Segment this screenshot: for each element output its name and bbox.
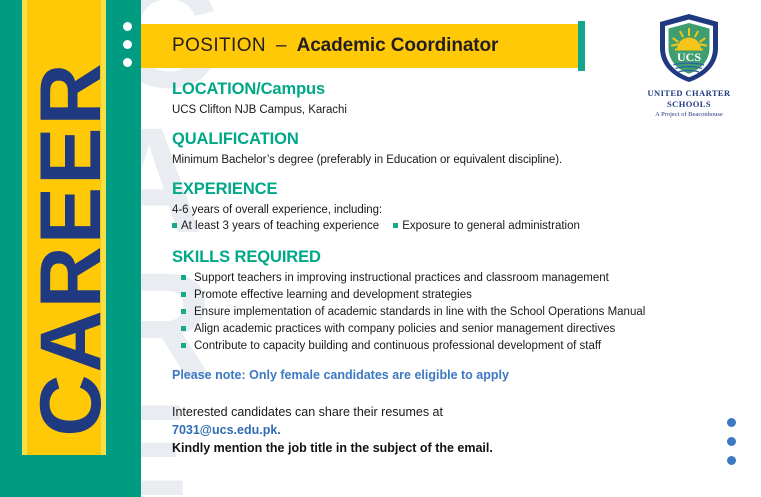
experience-bullet-item: At least 3 years of teaching experience — [172, 220, 379, 232]
apply-email[interactable]: 7031@ucs.edu.pk. — [172, 422, 732, 440]
apply-instruction: Interested candidates can share their re… — [172, 404, 732, 422]
subject-instruction: Kindly mention the job title in the subj… — [172, 440, 732, 458]
dot — [123, 58, 132, 67]
position-title: Academic Coordinator — [297, 35, 499, 57]
skills-heading: SKILLS REQUIRED — [172, 248, 732, 267]
list-item: Promote effective learning and developme… — [172, 289, 732, 301]
banner-dash: – — [266, 35, 297, 57]
bullet-square-icon — [181, 309, 186, 314]
eligibility-note: Please note: Only female candidates are … — [172, 368, 732, 382]
banner-inner: POSITION – Academic Coordinator — [141, 35, 498, 57]
qualification-value: Minimum Bachelor’s degree (preferably in… — [172, 154, 732, 166]
skill-text: Promote effective learning and developme… — [194, 289, 472, 301]
location-heading: LOCATION/Campus — [172, 80, 732, 99]
list-item: Align academic practices with company po… — [172, 323, 732, 335]
experience-bullet-item: Exposure to general administration — [393, 220, 580, 232]
job-details-content: LOCATION/Campus UCS Clifton NJB Campus, … — [172, 80, 732, 457]
qualification-heading: QUALIFICATION — [172, 130, 732, 149]
dot — [123, 22, 132, 31]
bullet-square-icon — [181, 275, 186, 280]
bullet-square-icon — [181, 326, 186, 331]
bullet-square-icon — [172, 223, 177, 228]
list-item: Contribute to capacity building and cont… — [172, 340, 732, 352]
three-dots-white-icon — [123, 22, 135, 76]
skill-text: Contribute to capacity building and cont… — [194, 340, 601, 352]
skill-text: Support teachers in improving instructio… — [194, 272, 609, 284]
ucs-shield-icon: UCS — [656, 12, 722, 84]
dot — [727, 456, 736, 465]
position-label: POSITION — [172, 35, 266, 57]
left-career-panel: CAREER — [0, 0, 141, 497]
dot — [727, 437, 736, 446]
list-item: Support teachers in improving instructio… — [172, 272, 732, 284]
list-item: Ensure implementation of academic standa… — [172, 306, 732, 318]
experience-bullet-text: Exposure to general administration — [402, 220, 580, 232]
bullet-square-icon — [181, 343, 186, 348]
skills-list: Support teachers in improving instructio… — [172, 272, 732, 352]
bullet-square-icon — [393, 223, 398, 228]
three-dots-blue-icon — [727, 418, 736, 475]
location-value: UCS Clifton NJB Campus, Karachi — [172, 104, 732, 116]
job-posting-poster: C A R E CAREER POSITION – Academic Coord… — [0, 0, 761, 497]
skill-text: Ensure implementation of academic standa… — [194, 306, 645, 318]
experience-bullet-text: At least 3 years of teaching experience — [181, 220, 379, 232]
skill-text: Align academic practices with company po… — [194, 323, 615, 335]
banner-teal-accent — [578, 21, 585, 71]
career-text-wrap: CAREER — [0, 0, 141, 497]
experience-bullets: At least 3 years of teaching experience … — [172, 220, 732, 232]
bullet-square-icon — [181, 292, 186, 297]
career-vertical-label: CAREER — [28, 61, 114, 436]
dot — [123, 40, 132, 49]
dot — [727, 418, 736, 427]
shield-ucs-text: UCS — [677, 50, 701, 64]
experience-heading: EXPERIENCE — [172, 180, 732, 199]
position-banner: POSITION – Academic Coordinator — [141, 24, 578, 68]
experience-intro: 4-6 years of overall experience, includi… — [172, 204, 732, 216]
